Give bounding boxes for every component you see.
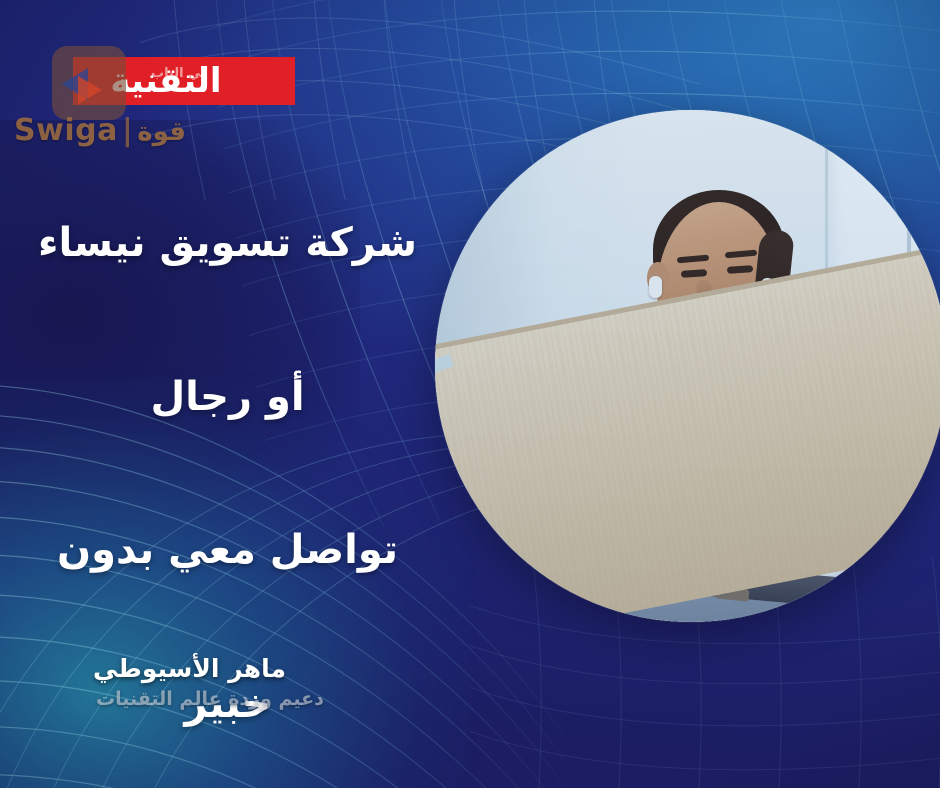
line-men: أو رجال bbox=[14, 372, 441, 423]
logo-arrow-right bbox=[78, 76, 102, 104]
swiga-brand-text: Swiga bbox=[14, 113, 118, 148]
swiga-play-logo-icon bbox=[52, 46, 126, 120]
red-banner-overlay-text: لي الباب bbox=[151, 66, 206, 81]
profile-photo-circle: CK bbox=[435, 110, 940, 622]
swiga-separator: | bbox=[122, 113, 133, 148]
photo-content: CK bbox=[435, 110, 940, 622]
person-name-watermark: ماهر الأسيوطي bbox=[93, 654, 286, 683]
line-contact: تواصل معي بدون bbox=[14, 525, 441, 576]
promo-poster: CK شركة تسويق نيساء أو رجال تواصل معي بد… bbox=[0, 0, 940, 788]
swiga-watermark: Swiga|قوة bbox=[14, 113, 186, 148]
line-company: شركة تسويق نيساء bbox=[14, 218, 441, 269]
swiga-arabic-text: قوة bbox=[137, 117, 186, 147]
person-subtitle-watermark: دعيم وردة عالم التقنيات bbox=[96, 688, 324, 710]
photo-cool-overlay bbox=[435, 110, 940, 622]
